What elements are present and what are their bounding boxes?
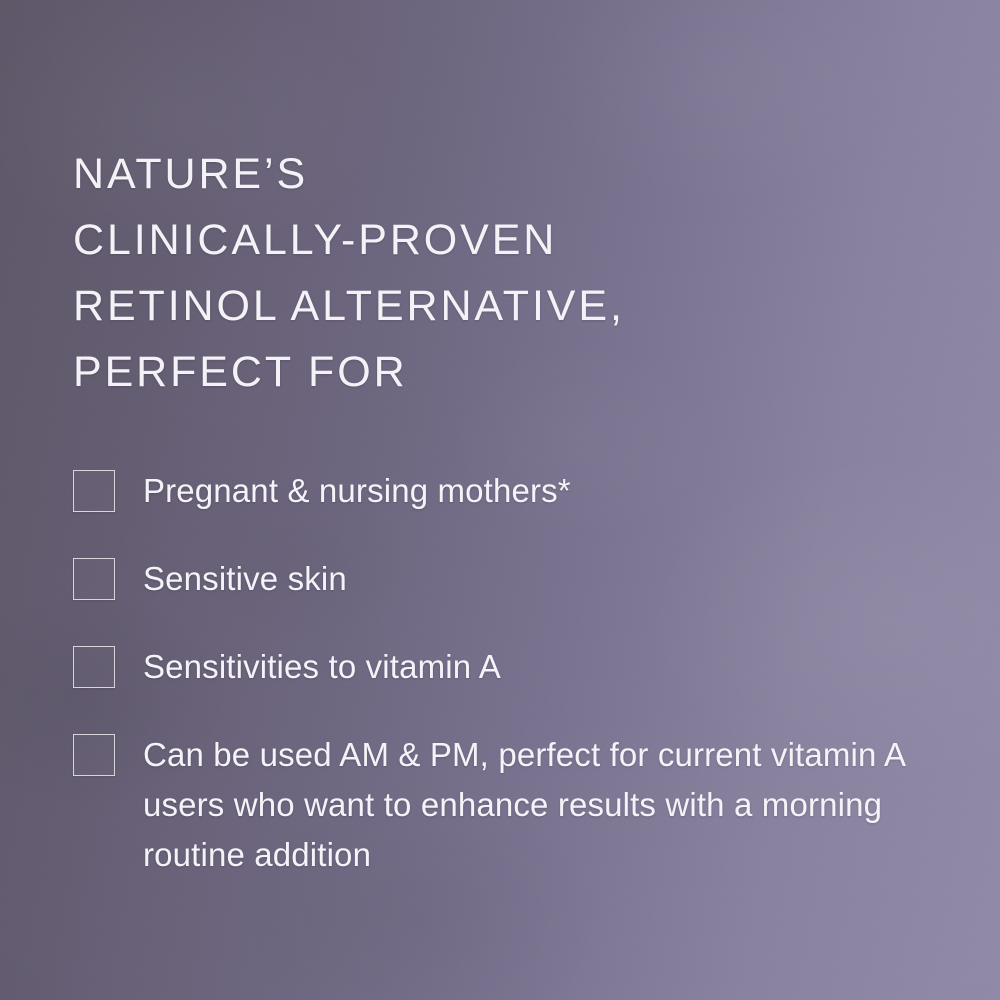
checkbox-icon[interactable] <box>73 558 115 600</box>
checklist-item[interactable]: Pregnant & nursing mothers* <box>73 466 953 516</box>
checkbox-icon[interactable] <box>73 470 115 512</box>
card-content: NATURE’S CLINICALLY-PROVEN RETINOL ALTER… <box>73 0 953 1000</box>
benefits-checklist: Pregnant & nursing mothers* Sensitive sk… <box>73 466 953 880</box>
checklist-item-label: Sensitivities to vitamin A <box>143 642 501 692</box>
checklist-item[interactable]: Sensitive skin <box>73 554 953 604</box>
checklist-item-label: Pregnant & nursing mothers* <box>143 466 571 516</box>
checkbox-icon[interactable] <box>73 646 115 688</box>
checklist-item-label: Can be used AM & PM, perfect for current… <box>143 730 943 880</box>
benefits-card: NATURE’S CLINICALLY-PROVEN RETINOL ALTER… <box>0 0 1000 1000</box>
checklist-item[interactable]: Can be used AM & PM, perfect for current… <box>73 730 953 880</box>
checklist-item-label: Sensitive skin <box>143 554 347 604</box>
checklist-item[interactable]: Sensitivities to vitamin A <box>73 642 953 692</box>
headline: NATURE’S CLINICALLY-PROVEN RETINOL ALTER… <box>73 141 933 405</box>
checkbox-icon[interactable] <box>73 734 115 776</box>
